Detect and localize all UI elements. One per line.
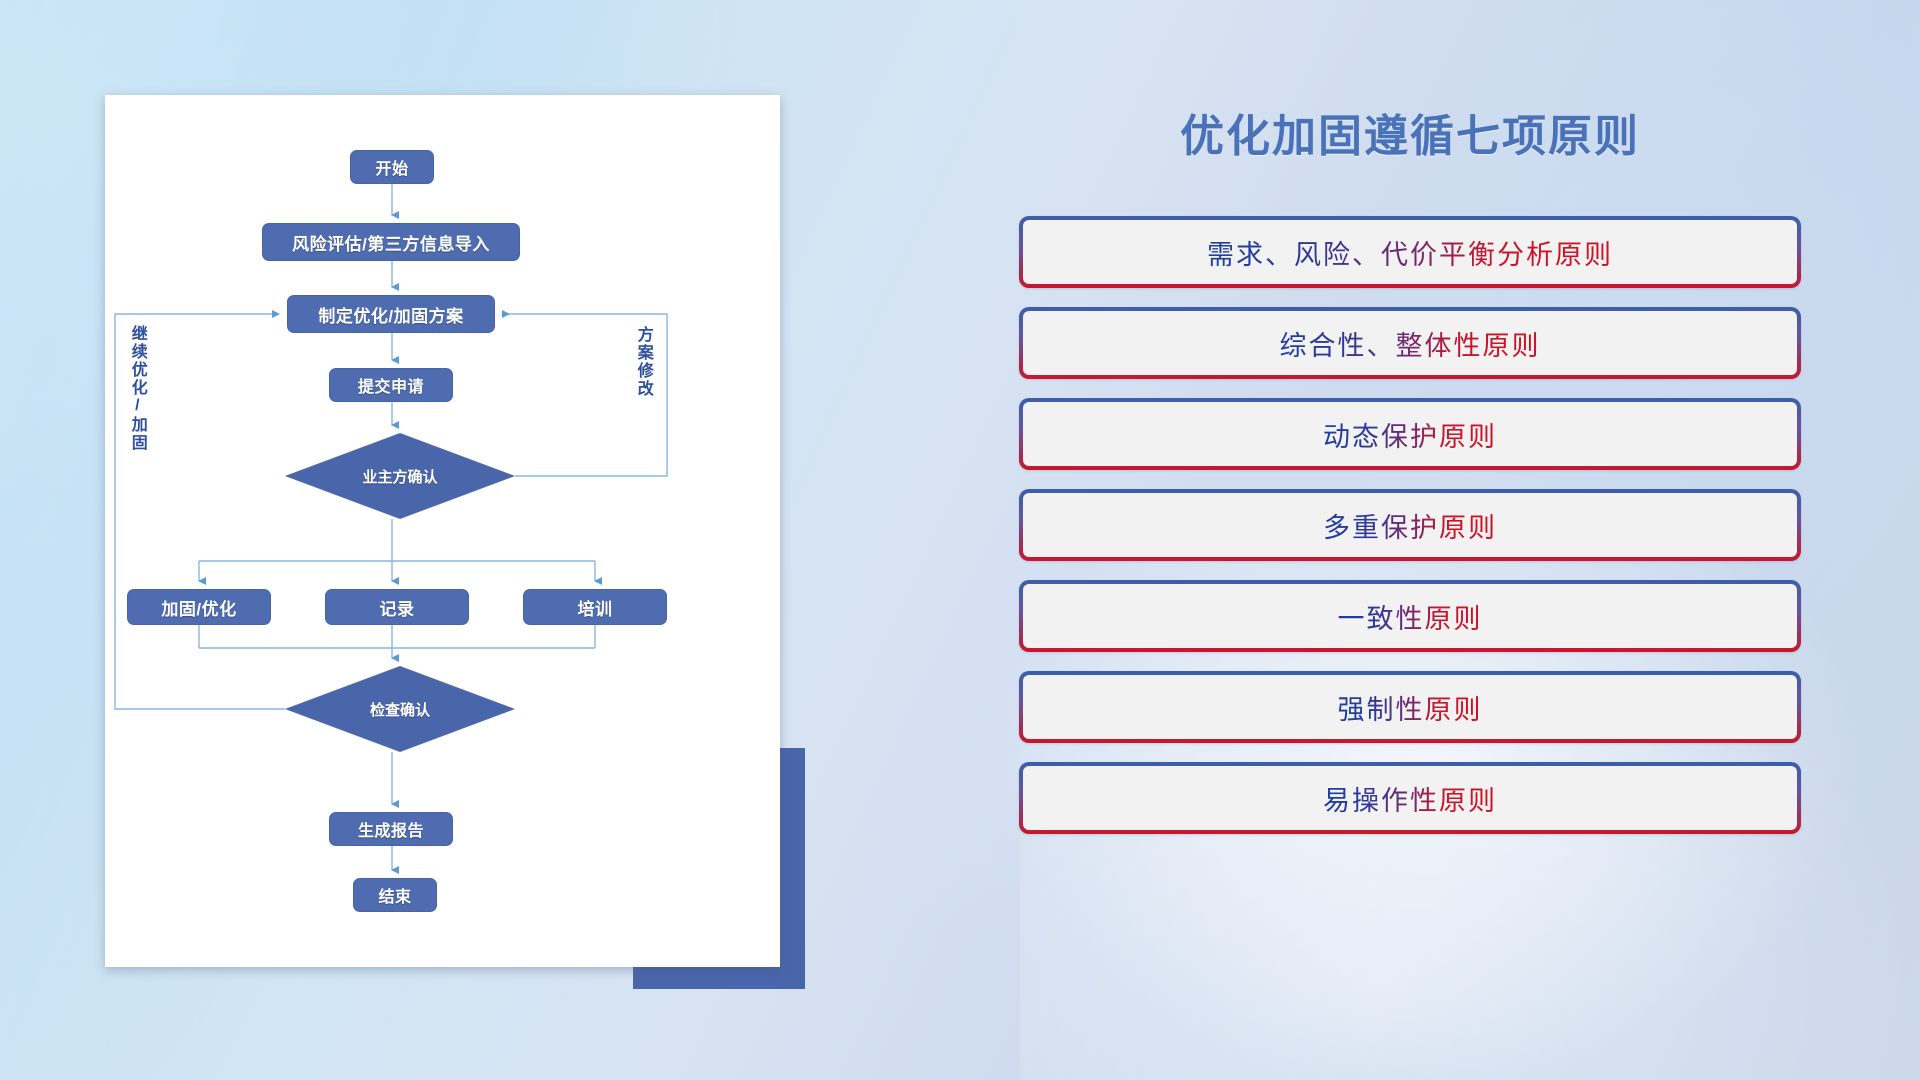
principle-label: 动态保护原则 <box>1323 415 1497 454</box>
flow-node-reinforce-optimize[interactable]: 加固/优化 <box>127 589 271 625</box>
flow-edge-label-plan-revise: 方案修改 <box>634 326 651 398</box>
flow-node-start[interactable]: 开始 <box>350 150 434 184</box>
principle-item-1[interactable]: 需求、风险、代价平衡分析原则 <box>1019 216 1801 288</box>
principles-panel: 优化加固遵循七项原则 需求、风险、代价平衡分析原则 综合性、整体性原则 动态保护… <box>1010 100 1810 853</box>
flow-node-risk-assessment[interactable]: 风险评估/第三方信息导入 <box>262 223 520 261</box>
principle-item-6[interactable]: 强制性原则 <box>1019 671 1801 743</box>
principle-item-2[interactable]: 综合性、整体性原则 <box>1019 307 1801 379</box>
principle-item-5[interactable]: 一致性原则 <box>1019 580 1801 652</box>
principle-label: 需求、风险、代价平衡分析原则 <box>1207 233 1613 272</box>
principle-item-4[interactable]: 多重保护原则 <box>1019 489 1801 561</box>
flow-edge-label-continue-optimize: 继续优化/加固 <box>128 325 145 452</box>
flow-node-generate-report[interactable]: 生成报告 <box>329 812 453 846</box>
flow-node-submit-application[interactable]: 提交申请 <box>329 368 453 402</box>
flow-node-end[interactable]: 结束 <box>353 878 437 912</box>
principle-item-3[interactable]: 动态保护原则 <box>1019 398 1801 470</box>
slide-canvas: 开始 风险评估/第三方信息导入 制定优化/加固方案 提交申请 加固/优化 记录 … <box>0 0 1920 1080</box>
flow-node-record[interactable]: 记录 <box>325 589 469 625</box>
principle-label: 强制性原则 <box>1338 688 1483 727</box>
principle-label: 综合性、整体性原则 <box>1280 324 1541 363</box>
flow-node-make-plan[interactable]: 制定优化/加固方案 <box>287 295 495 333</box>
panel-title: 优化加固遵循七项原则 <box>1010 100 1810 164</box>
principle-label: 多重保护原则 <box>1323 506 1497 545</box>
principle-label: 易操作性原则 <box>1323 779 1497 818</box>
principle-label: 一致性原则 <box>1338 597 1483 636</box>
principle-item-7[interactable]: 易操作性原则 <box>1019 762 1801 834</box>
flow-node-training[interactable]: 培训 <box>523 589 667 625</box>
flowchart-card: 开始 风险评估/第三方信息导入 制定优化/加固方案 提交申请 加固/优化 记录 … <box>105 95 780 967</box>
